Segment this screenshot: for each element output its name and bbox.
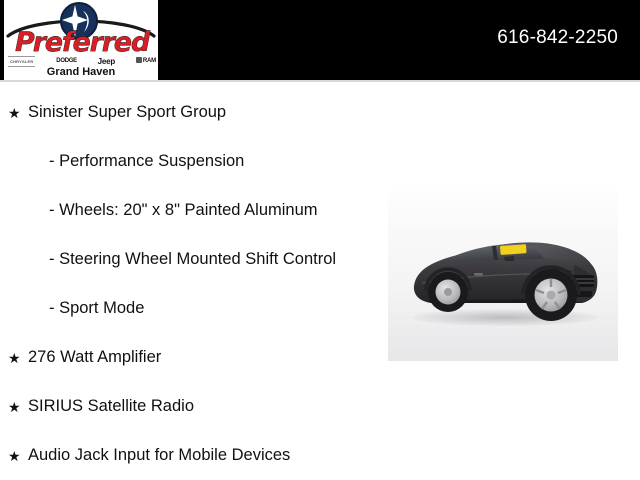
- feature-sub-item: - Sport Mode: [0, 284, 380, 333]
- feature-label: - Sport Mode: [49, 299, 144, 318]
- star-bullet-icon: ★: [8, 106, 28, 120]
- brand-jeep: Jeep: [98, 58, 115, 65]
- vehicle-photo[interactable]: [388, 191, 618, 361]
- feature-item: ★276 Watt Amplifier: [0, 333, 380, 382]
- feature-sub-item: - Steering Wheel Mounted Shift Control: [0, 235, 380, 284]
- feature-label: Sinister Super Sport Group: [28, 103, 226, 122]
- feature-list: ★Sinister Super Sport Group- Performance…: [0, 88, 380, 480]
- vehicle-illustration-icon: [388, 191, 618, 361]
- header-bar: Preferred CHRYSLER DODGE Jeep RAM Grand …: [0, 0, 640, 80]
- feature-item: ★SIRIUS Satellite Radio: [0, 382, 380, 431]
- brand-ram: RAM: [136, 57, 156, 65]
- feature-label: SIRIUS Satellite Radio: [28, 397, 194, 416]
- ram-head-icon: [136, 57, 142, 63]
- brand-chrysler: CHRYSLER: [8, 56, 35, 67]
- feature-item: ★Sinister Super Sport Group: [0, 88, 380, 137]
- dealer-logo[interactable]: Preferred CHRYSLER DODGE Jeep RAM Grand …: [4, 0, 158, 80]
- feature-label: - Steering Wheel Mounted Shift Control: [49, 250, 336, 269]
- brand-dodge: DODGE: [56, 58, 77, 65]
- feature-sub-item: - Wheels: 20" x 8" Painted Aluminum: [0, 186, 380, 235]
- header-divider: [0, 80, 640, 82]
- feature-label: 276 Watt Amplifier: [28, 348, 161, 367]
- feature-label: - Performance Suspension: [49, 152, 244, 171]
- star-bullet-icon: ★: [8, 351, 28, 365]
- feature-label: Audio Jack Input for Mobile Devices: [28, 446, 290, 465]
- vehicle-feature-slide: Preferred CHRYSLER DODGE Jeep RAM Grand …: [0, 0, 640, 480]
- star-bullet-icon: ★: [8, 449, 28, 463]
- feature-item: ★Audio Jack Input for Mobile Devices: [0, 431, 380, 480]
- feature-label: - Wheels: 20" x 8" Painted Aluminum: [49, 201, 318, 220]
- dealer-phone-number[interactable]: 616-842-2250: [497, 27, 618, 49]
- logo-city-label: Grand Haven: [4, 66, 158, 78]
- logo-wordmark: Preferred: [9, 30, 155, 56]
- feature-sub-item: - Performance Suspension: [0, 137, 380, 186]
- star-bullet-icon: ★: [8, 400, 28, 414]
